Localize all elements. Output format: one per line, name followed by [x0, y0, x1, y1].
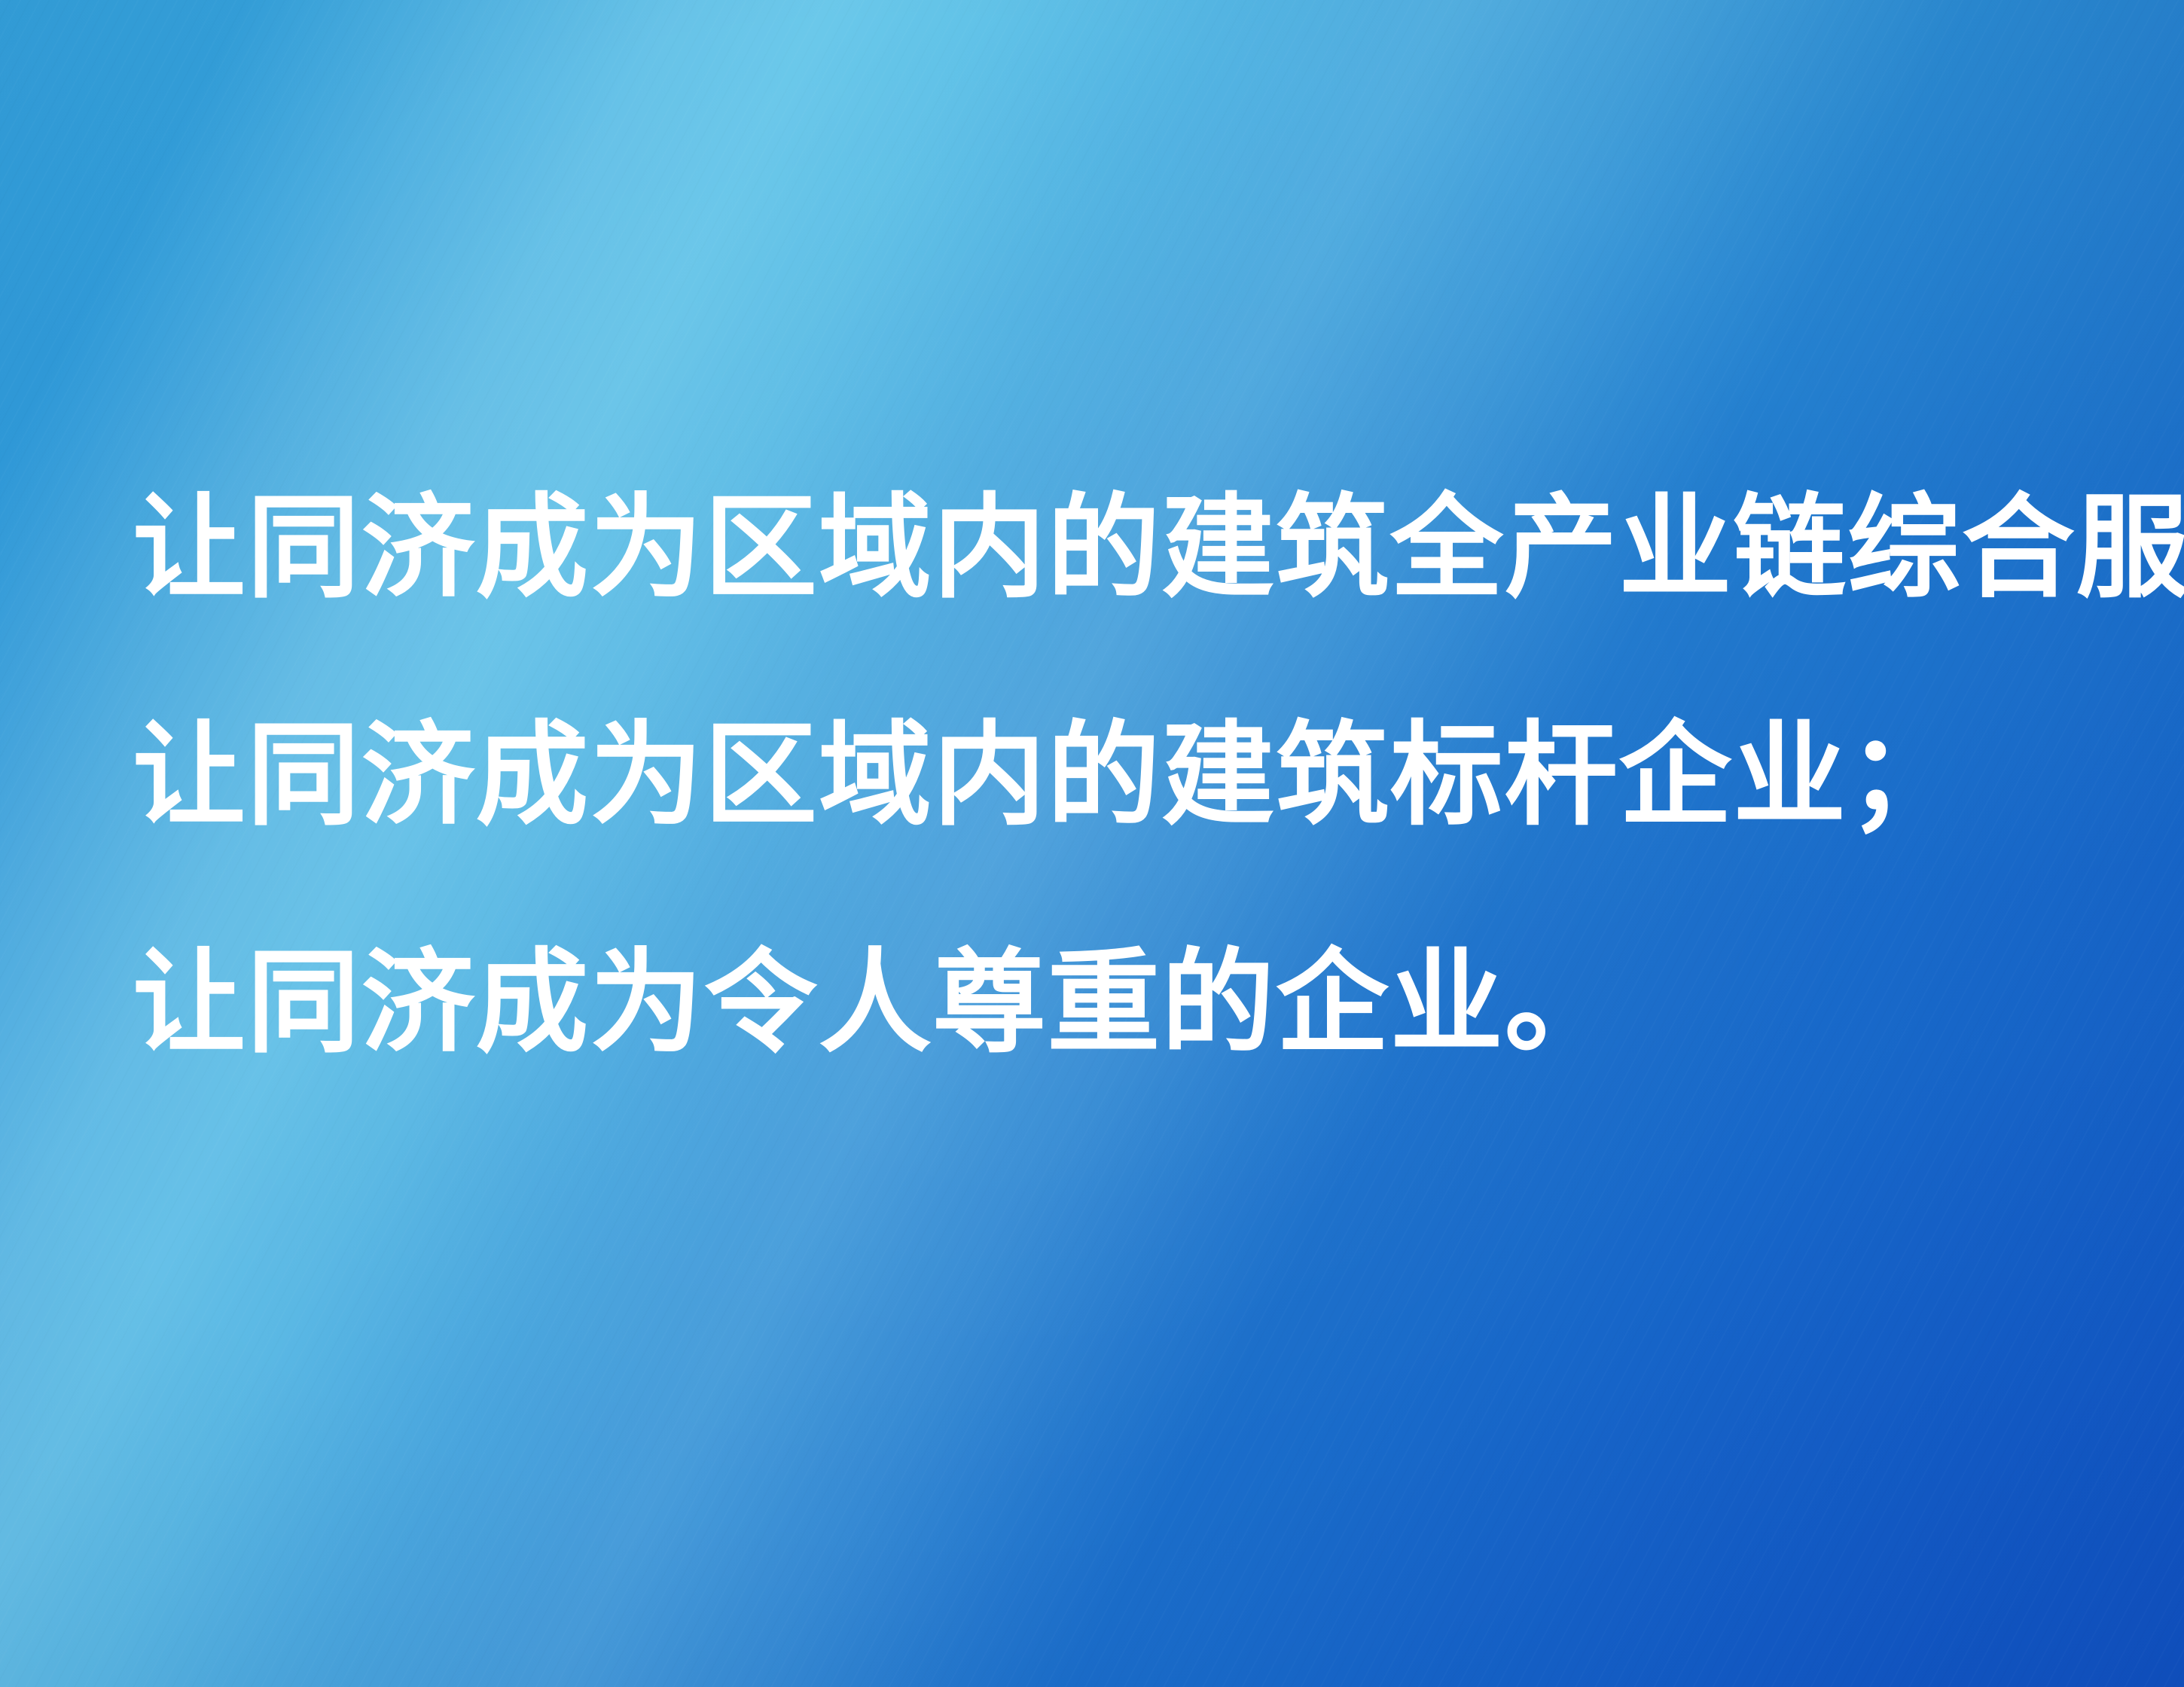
slogan-line-2: 让同济成为区域内的建筑标杆企业；	[133, 663, 2060, 890]
slogan-line-1: 让同济成为区域内的建筑全产业链综合服务商；	[133, 435, 2060, 663]
slogan-text-block: 让同济成为区域内的建筑全产业链综合服务商； 让同济成为区域内的建筑标杆企业； 让…	[133, 435, 2060, 1118]
slide-canvas: 让同济成为区域内的建筑全产业链综合服务商； 让同济成为区域内的建筑标杆企业； 让…	[0, 0, 2184, 1687]
slogan-line-3: 让同济成为令人尊重的企业。	[133, 890, 2060, 1118]
